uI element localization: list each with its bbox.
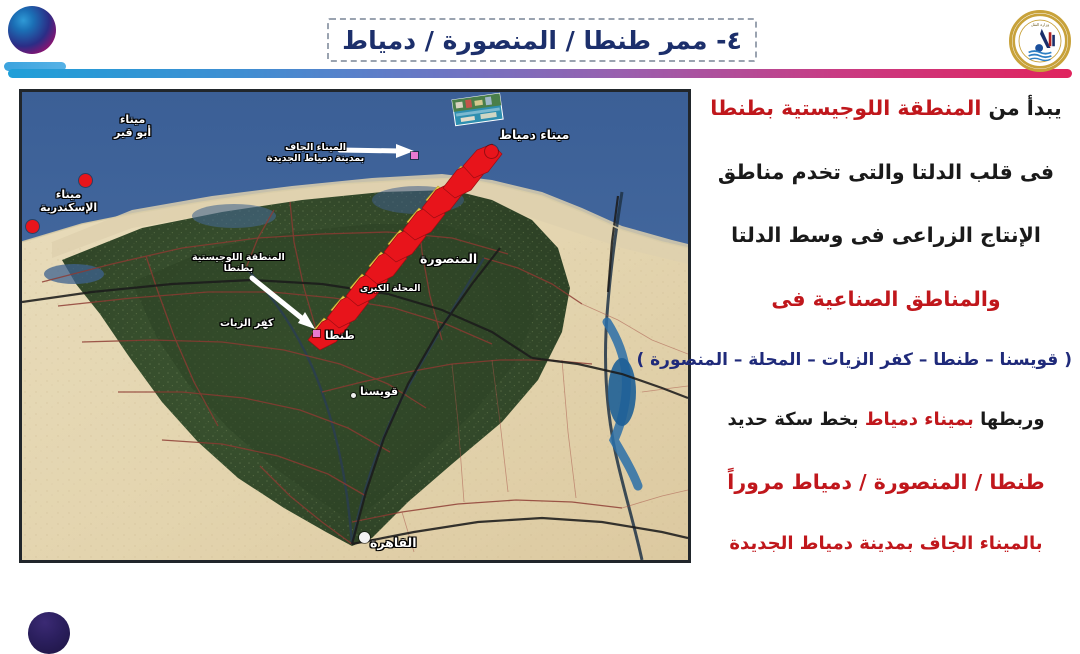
marker-damietta-port[interactable] <box>485 145 498 158</box>
text-line-6: وربطها بميناء دمياط بخط سكة حديد <box>700 409 1072 432</box>
map-label-quesna: قويسنا <box>360 386 398 399</box>
map-label-logistics-zone: المنطقة اللوجيستيةبطنطا <box>192 252 285 274</box>
map-label-dry-port: الميناء الجافبمدينة دمياط الجديدة <box>267 142 364 164</box>
line-2-part-1: فى قلب الدلتا والتى تخدم مناطق <box>718 160 1054 184</box>
line-6-part-3: بخط سكة حديد <box>727 409 864 430</box>
marker-dry-port[interactable] <box>411 152 418 159</box>
text-line-2: فى قلب الدلتا والتى تخدم مناطق <box>700 160 1072 186</box>
line-1-part-2: المنطقة اللوجيستية بطنطا <box>710 96 981 120</box>
line-7-part-1: طنطا / المنصورة / دمياط مروراً <box>727 470 1044 494</box>
ministry-logo: وزارة النقل <box>1009 10 1071 72</box>
line-5-part-1: ( قويسنا – طنطا – كفر الزيات – المحلة – … <box>636 350 1072 370</box>
text-line-8: بالميناء الجاف بمدينة دمياط الجديدة <box>700 533 1072 556</box>
line-4-part-1: والمناطق الصناعية فى <box>771 287 1000 311</box>
text-line-4: والمناطق الصناعية فى <box>700 287 1072 313</box>
slide-title: ٤- ممر طنطا / المنصورة / دمياط <box>342 28 742 53</box>
map-label-mahalla: المحلة الكبرى <box>360 284 420 295</box>
text-line-5-city-list: ( قويسنا – طنطا – كفر الزيات – المحلة – … <box>700 350 1072 371</box>
svg-text:وزارة النقل: وزارة النقل <box>1031 22 1049 27</box>
description-panel: يبدأ من المنطقة اللوجيستية بطنطا فى قلب … <box>700 96 1072 556</box>
map-label-damietta-port: ميناء دمياط <box>499 128 569 143</box>
text-line-3: الإنتاج الزراعى فى وسط الدلتا <box>700 223 1072 249</box>
line-6-part-2: بميناء دمياط <box>865 409 974 430</box>
marker-abu-qir-port[interactable] <box>79 174 92 187</box>
line-1-part-1: يبدأ من <box>981 96 1061 120</box>
header-gradient-rule <box>8 69 1072 78</box>
text-line-7: طنطا / المنصورة / دمياط مروراً <box>700 470 1072 496</box>
line-8-part-1: بالميناء الجاف بمدينة دمياط الجديدة <box>729 533 1042 554</box>
decorative-sphere-bottom-left <box>28 612 70 654</box>
marker-cairo[interactable] <box>359 532 370 543</box>
marker-tanta-logistics[interactable] <box>313 330 320 337</box>
map-label-cairo: القاهرة <box>370 536 417 551</box>
map-label-abu-qir-port: ميناءأبو قير <box>114 114 151 140</box>
map-label-mansoura: المنصورة <box>420 252 477 267</box>
marker-quesna[interactable] <box>351 393 356 398</box>
map-label-alexandria-port: ميناءالإسكندرية <box>40 189 97 215</box>
map-label-kafr-elzayat: كفر الزيات <box>220 318 274 330</box>
line-6-part-1: وربطها <box>974 409 1045 430</box>
marker-alexandria-port[interactable] <box>26 220 39 233</box>
ministry-emblem-icon: وزارة النقل <box>1012 13 1068 69</box>
map-label-tanta: طنطا <box>325 330 355 343</box>
slide-title-box: ٤- ممر طنطا / المنصورة / دمياط <box>327 18 757 62</box>
decorative-sphere-top-left <box>8 6 56 54</box>
map-container[interactable]: ميناءأبو قير ميناءالإسكندرية ميناء دمياط… <box>19 89 691 563</box>
line-3-part-1: الإنتاج الزراعى فى وسط الدلتا <box>731 223 1041 247</box>
text-line-1: يبدأ من المنطقة اللوجيستية بطنطا <box>700 96 1072 122</box>
